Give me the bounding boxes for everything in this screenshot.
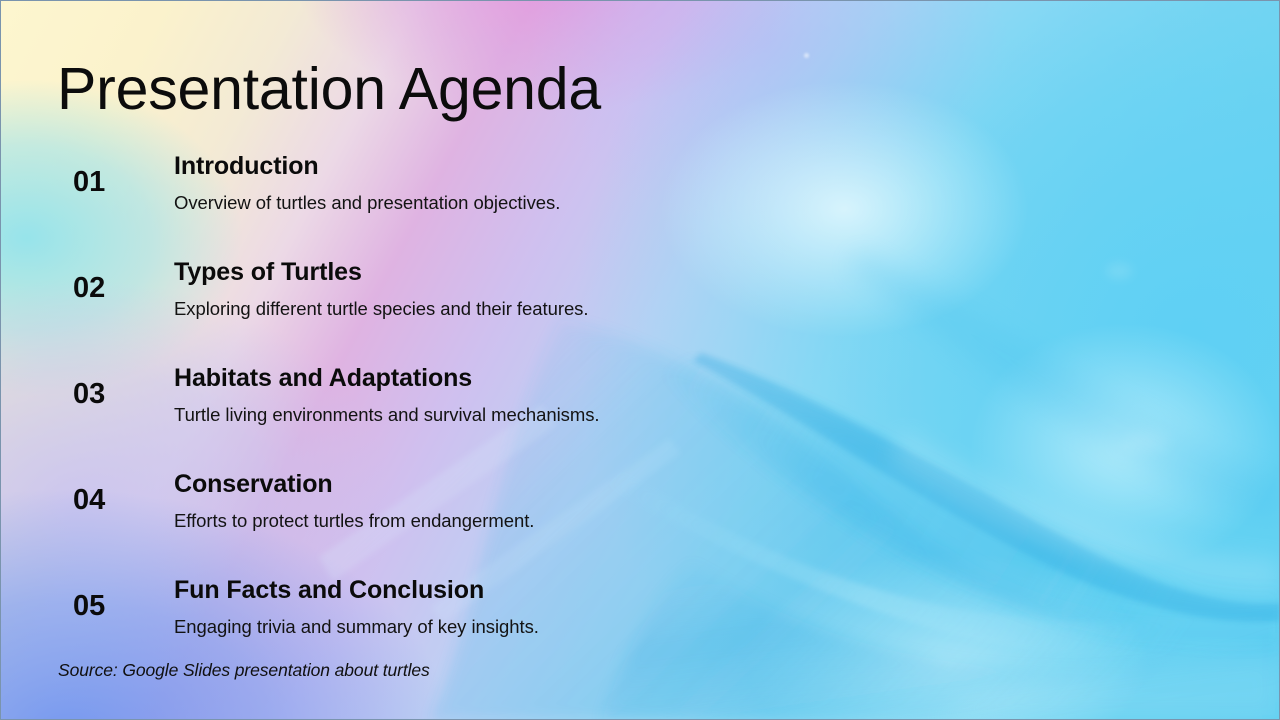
agenda-item: 01 Introduction Overview of turtles and … [1, 151, 1280, 257]
agenda-item-number: 02 [73, 272, 105, 305]
agenda-item-number: 01 [73, 166, 105, 199]
agenda-item-description: Overview of turtles and presentation obj… [174, 191, 1241, 214]
agenda-item: 04 Conservation Efforts to protect turtl… [1, 469, 1280, 575]
agenda-item-number: 05 [73, 590, 105, 623]
agenda-item-number: 04 [73, 484, 105, 517]
agenda-item-body: Introduction Overview of turtles and pre… [174, 151, 1241, 214]
slide-content: Presentation Agenda 01 Introduction Over… [1, 1, 1279, 719]
page-title: Presentation Agenda [57, 58, 601, 121]
agenda-item-description: Exploring different turtle species and t… [174, 297, 1241, 320]
agenda-list: 01 Introduction Overview of turtles and … [1, 151, 1280, 681]
agenda-item: 03 Habitats and Adaptations Turtle livin… [1, 363, 1280, 469]
agenda-item-number: 03 [73, 378, 105, 411]
agenda-item-body: Fun Facts and Conclusion Engaging trivia… [174, 575, 1241, 638]
agenda-item-heading: Conservation [174, 469, 1241, 500]
agenda-item-description: Efforts to protect turtles from endanger… [174, 509, 1241, 532]
presentation-slide: Presentation Agenda 01 Introduction Over… [0, 0, 1280, 720]
agenda-item-heading: Types of Turtles [174, 257, 1241, 288]
source-note: Source: Google Slides presentation about… [58, 660, 430, 681]
agenda-item-heading: Habitats and Adaptations [174, 363, 1241, 394]
agenda-item-description: Engaging trivia and summary of key insig… [174, 615, 1241, 638]
agenda-item-body: Types of Turtles Exploring different tur… [174, 257, 1241, 320]
agenda-item-heading: Fun Facts and Conclusion [174, 575, 1241, 606]
agenda-item-description: Turtle living environments and survival … [174, 403, 1241, 426]
agenda-item-body: Habitats and Adaptations Turtle living e… [174, 363, 1241, 426]
agenda-item-heading: Introduction [174, 151, 1241, 182]
agenda-item-body: Conservation Efforts to protect turtles … [174, 469, 1241, 532]
agenda-item: 02 Types of Turtles Exploring different … [1, 257, 1280, 363]
